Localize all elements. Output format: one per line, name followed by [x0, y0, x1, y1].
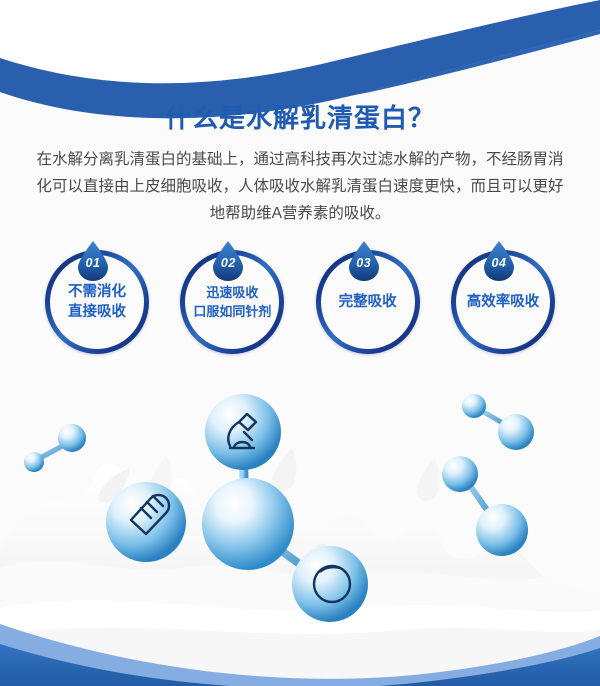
feature-number: 01: [76, 249, 110, 277]
molecule-node-small: [476, 504, 528, 556]
feature-item-01[interactable]: 01 不需消化 直接吸收: [38, 240, 156, 364]
wave-light-top: [0, 0, 600, 85]
wave-dark-top: [0, 10, 600, 110]
feature-number: 03: [347, 249, 381, 277]
molecule-milk-illustration: [0, 372, 600, 686]
molecule-node-testtube: [106, 482, 186, 562]
molecule-node-petri: [292, 546, 368, 622]
feature-item-02[interactable]: 02 迅速吸收 口服如同针剂: [173, 240, 291, 364]
product-detail-page: 什么是水解乳清蛋白？ 在水解分离乳清蛋白的基础上，通过高科技再次过滤水解的产物，…: [0, 0, 600, 686]
feature-item-04[interactable]: 04 高效率吸收: [444, 240, 562, 364]
molecule-node-small: [498, 414, 534, 450]
molecule-node-small: [442, 456, 478, 492]
feature-circle-row: 01 不需消化 直接吸收 02 迅速吸收 口服如同针剂 03 完整吸收 04: [38, 240, 562, 368]
molecule-node-small: [24, 452, 44, 472]
molecule-node-small: [462, 394, 486, 418]
feature-number: 04: [482, 249, 516, 277]
feature-number: 02: [211, 249, 245, 277]
page-title: 什么是水解乳清蛋白？: [0, 98, 600, 135]
intro-paragraph: 在水解分离乳清蛋白的基础上，通过高科技再次过滤水解的产物，不经肠胃消化可以直接由…: [34, 146, 566, 227]
wave-dark-band: [0, 0, 600, 62]
molecule-node-small: [58, 424, 86, 452]
feature-item-03[interactable]: 03 完整吸收: [309, 240, 427, 364]
molecule-node-center: [202, 478, 294, 570]
